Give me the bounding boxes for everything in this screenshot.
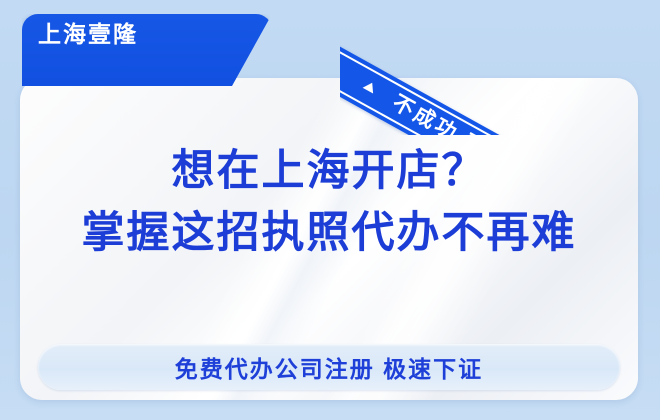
cta-pill[interactable]: 免费代办公司注册 极速下证 bbox=[38, 344, 620, 390]
cta-label: 免费代办公司注册 极速下证 bbox=[175, 350, 483, 384]
content-card: 想在上海开店？ 掌握这招执照代办不再难 免费代办公司注册 极速下证 bbox=[20, 78, 638, 400]
brand-tab-label: 上海壹隆 bbox=[38, 20, 138, 48]
headline-block: 想在上海开店？ 掌握这招执照代办不再难 bbox=[20, 140, 638, 264]
headline-line-1: 想在上海开店？ bbox=[20, 140, 638, 202]
banner-root: 想在上海开店？ 掌握这招执照代办不再难 免费代办公司注册 极速下证 上海壹隆 不… bbox=[0, 0, 660, 420]
headline-line-2: 掌握这招执照代办不再难 bbox=[20, 202, 638, 264]
